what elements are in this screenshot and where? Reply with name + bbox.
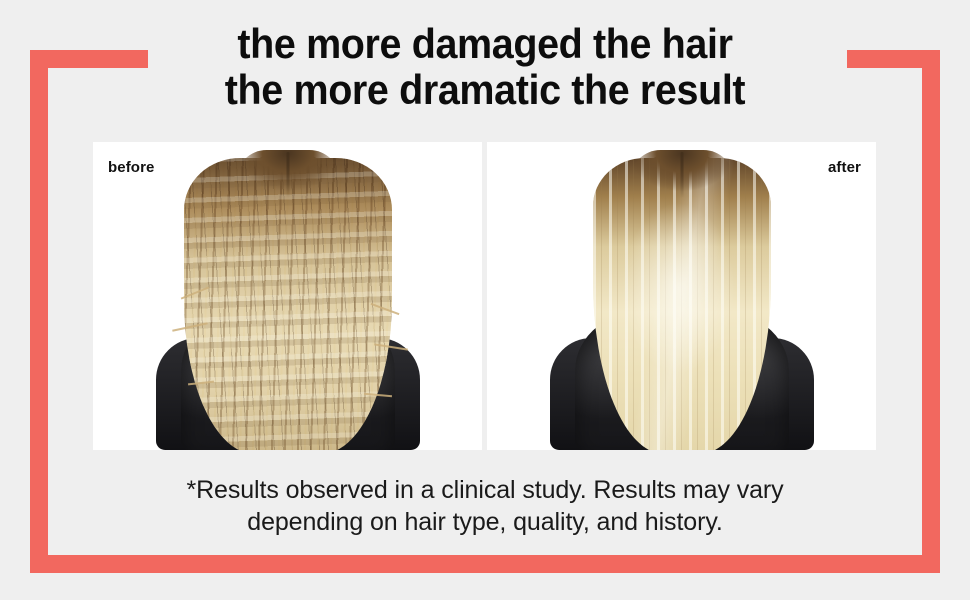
disclaimer-line-1: *Results observed in a clinical study. R… <box>48 474 922 506</box>
before-figure <box>158 150 418 450</box>
after-label: after <box>828 159 861 176</box>
frame-right-bar <box>922 50 940 573</box>
frame-left-bar <box>30 50 48 573</box>
after-figure <box>552 150 812 450</box>
before-photo-panel: before <box>93 142 482 450</box>
disclaimer: *Results observed in a clinical study. R… <box>48 474 922 538</box>
disclaimer-line-2: depending on hair type, quality, and his… <box>48 506 922 538</box>
frame-bottom-bar <box>30 555 940 573</box>
headline: the more damaged the hair the more drama… <box>29 21 941 113</box>
after-hair-part <box>680 152 683 198</box>
promo-banner: the more damaged the hair the more drama… <box>0 0 970 600</box>
headline-line-2: the more dramatic the result <box>29 67 941 113</box>
before-after-comparison: before after <box>93 142 876 450</box>
after-photo-panel: after <box>487 142 876 450</box>
headline-line-1: the more damaged the hair <box>29 21 941 67</box>
before-hair-part <box>286 152 289 198</box>
before-label: before <box>108 159 154 176</box>
